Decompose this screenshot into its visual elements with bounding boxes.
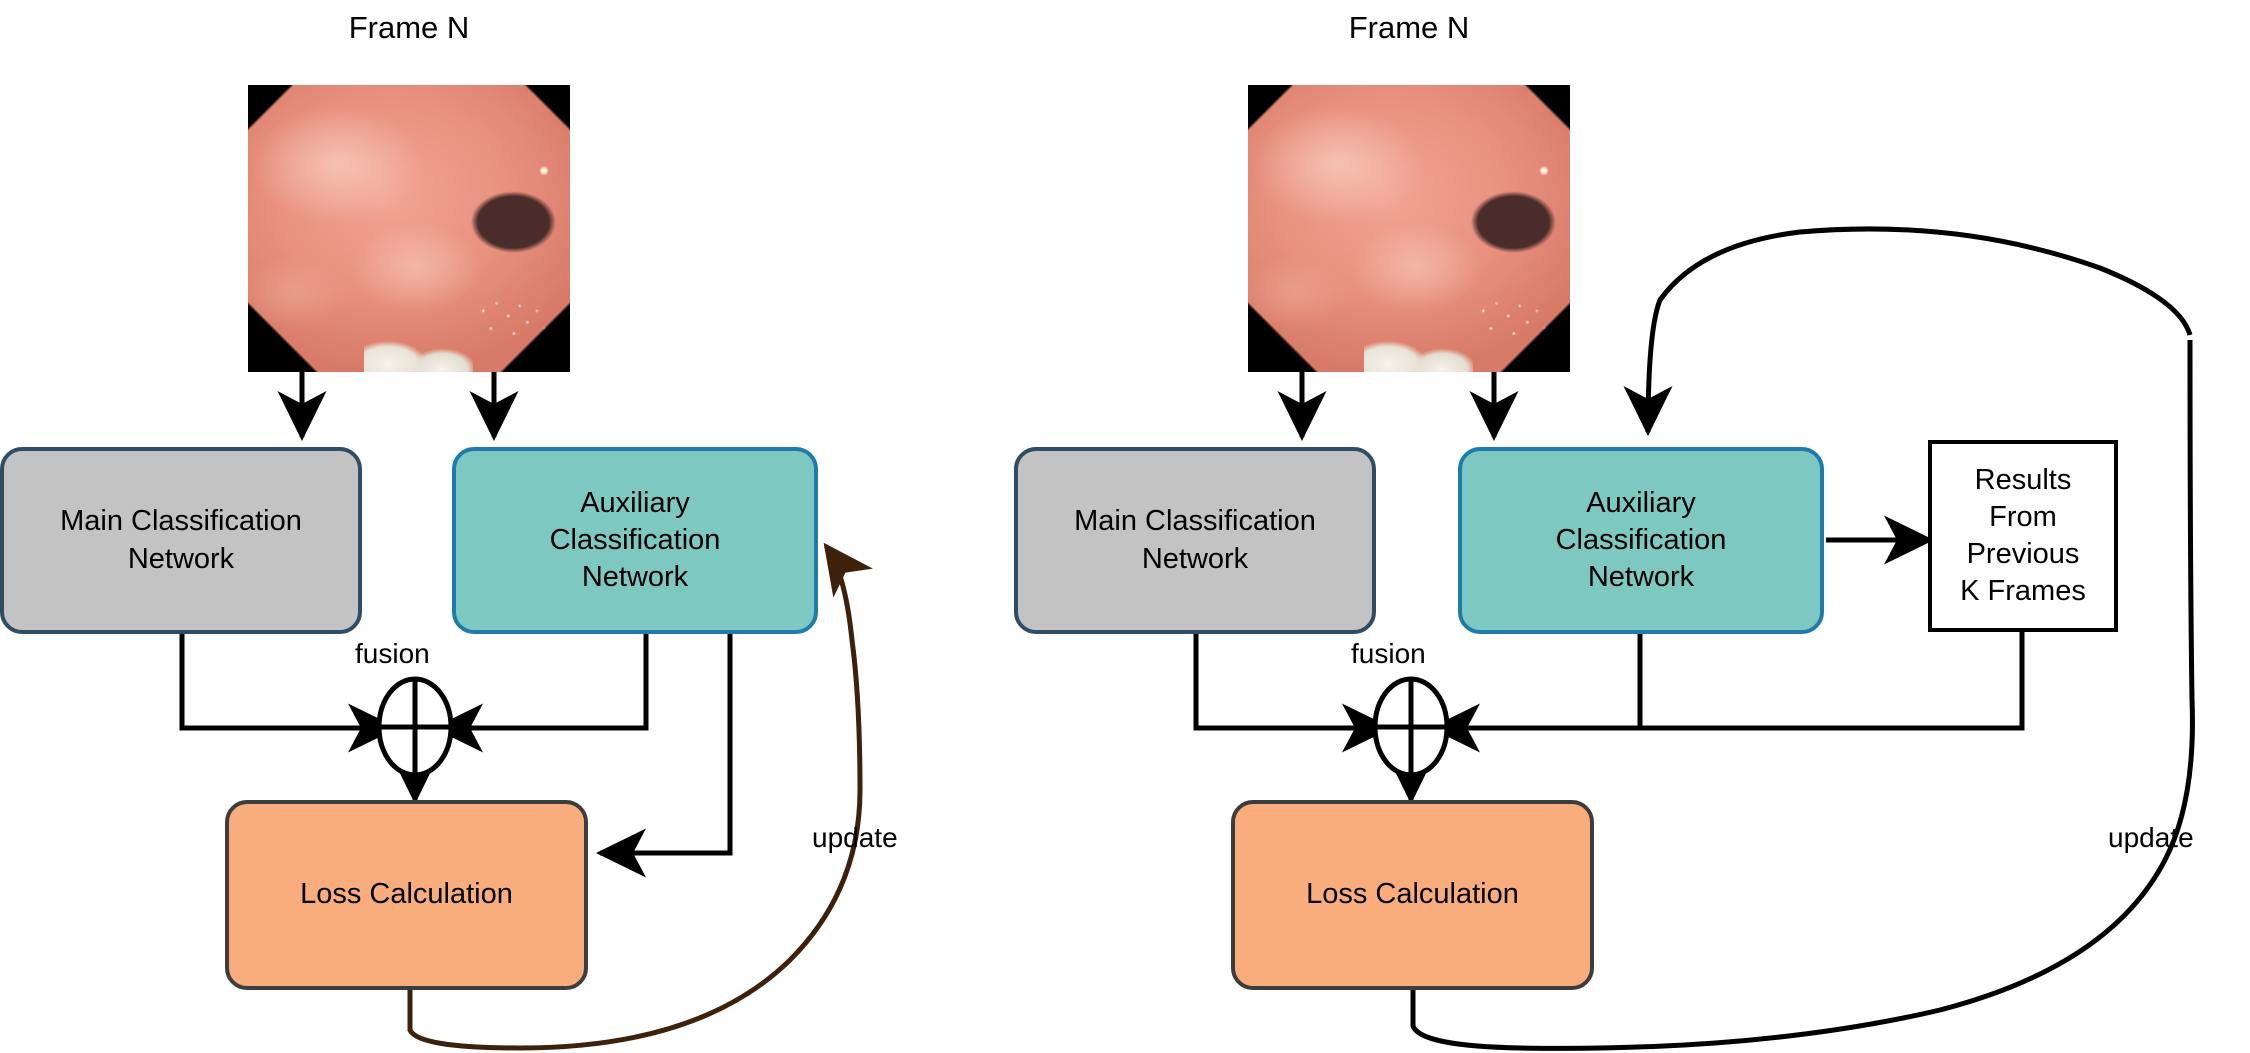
main-classification-network-left[interactable]: Main Classification Network [0, 447, 362, 634]
frame-label-left: Frame N [248, 12, 570, 43]
node-label: Loss Calculation [1306, 876, 1519, 913]
node-label: Results From Previous K Frames [1960, 462, 2086, 610]
node-label: Main Classification Network [60, 503, 302, 577]
loss-calculation-left[interactable]: Loss Calculation [225, 800, 588, 990]
auxiliary-classification-network-left[interactable]: Auxiliary Classification Network [452, 447, 818, 634]
node-label-line1: Auxiliary [1586, 487, 1696, 519]
node-label-line1: Main Classification [1074, 505, 1316, 537]
diagram-canvas: Frame N Main Classification Network Auxi… [0, 0, 2250, 1053]
frame-label-right: Frame N [1248, 12, 1570, 43]
node-label: Loss Calculation [300, 876, 513, 913]
results-from-previous-k-frames[interactable]: Results From Previous K Frames [1928, 440, 2118, 632]
fusion-label-left: fusion [355, 640, 430, 668]
node-label-line1: Main Classification [60, 505, 302, 537]
node-label: Auxiliary Classification Network [550, 485, 721, 596]
update-label-right: update [2108, 824, 2194, 852]
node-label-line2: Classification [1556, 524, 1727, 556]
image-corner-mask [1248, 85, 1570, 372]
node-label-line2: Classification [550, 524, 721, 556]
fusion-label-right: fusion [1351, 640, 1426, 668]
node-label-line1: Auxiliary [580, 487, 690, 519]
node-label-line4: K Frames [1960, 575, 2086, 607]
node-label-line2: From [1989, 501, 2057, 533]
loss-calculation-right[interactable]: Loss Calculation [1231, 800, 1594, 990]
update-label-left: update [812, 824, 898, 852]
node-label-line3: Network [582, 561, 688, 593]
node-label: Auxiliary Classification Network [1556, 485, 1727, 596]
auxiliary-classification-network-right[interactable]: Auxiliary Classification Network [1458, 447, 1824, 634]
node-label-line2: Network [128, 543, 234, 575]
endoscopy-image-left [248, 85, 570, 372]
main-classification-network-right[interactable]: Main Classification Network [1014, 447, 1376, 634]
node-label-line1: Results [1975, 464, 2072, 496]
endoscopy-image-right [1248, 85, 1570, 372]
image-corner-mask [248, 85, 570, 372]
node-label-line2: Network [1142, 543, 1248, 575]
node-label-line3: Previous [1967, 538, 2080, 570]
node-label: Main Classification Network [1074, 503, 1316, 577]
node-label-line3: Network [1588, 561, 1694, 593]
